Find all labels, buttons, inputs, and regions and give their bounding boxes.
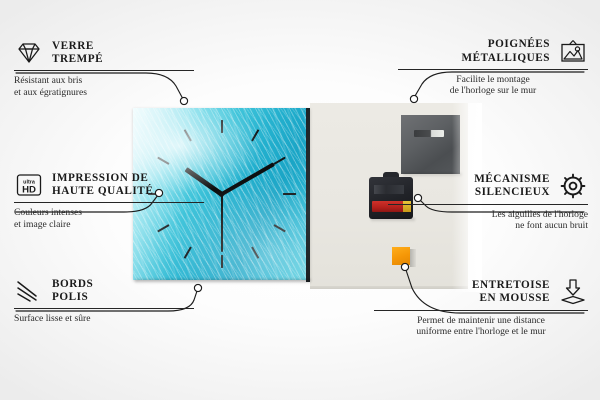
- feature-desc-line1: Les aiguilles de l'horloge: [388, 209, 588, 220]
- feature-desc-line1: Couleurs intenses: [14, 207, 204, 218]
- feature-rule: [398, 69, 588, 70]
- feature-rule: [374, 310, 588, 311]
- feature-entretoise-mousse: ENTRETOISE EN MOUSSE Permet de maintenir…: [374, 278, 588, 338]
- feature-title-line2: HAUTE QUALITÉ: [52, 185, 153, 198]
- feature-title-line1: MÉCANISME: [474, 173, 550, 185]
- feature-rule: [14, 202, 204, 203]
- feature-title-line2: MÉTALLIQUES: [461, 52, 550, 65]
- feature-title: ENTRETOISE EN MOUSSE: [472, 279, 550, 305]
- feature-desc-line2: et image claire: [14, 219, 204, 230]
- arrow-down-pad-icon: [558, 278, 588, 306]
- feature-title: IMPRESSION DE HAUTE QUALITÉ: [52, 172, 153, 198]
- feature-desc: Les aiguilles de l'horloge ne font aucun…: [388, 209, 588, 232]
- feature-title: BORDS POLIS: [52, 278, 93, 304]
- feature-desc: Couleurs intenses et image claire: [14, 207, 204, 230]
- feature-title: POIGNÉES MÉTALLIQUES: [461, 38, 550, 64]
- ultra-hd-icon: ultra HD: [14, 172, 44, 198]
- feature-title-line2: TREMPÉ: [52, 53, 103, 66]
- feature-rule: [14, 308, 194, 309]
- feature-impression-hd: ultra HD IMPRESSION DE HAUTE QUALITÉ Cou…: [14, 172, 204, 230]
- feature-title-line2: EN MOUSSE: [472, 292, 550, 305]
- feature-title-line2: POLIS: [52, 291, 93, 304]
- feature-title-line1: IMPRESSION DE: [52, 172, 148, 184]
- feature-desc-line1: Facilite le montage: [398, 74, 588, 85]
- feature-desc: Surface lisse et sûre: [14, 313, 194, 324]
- diamond-icon: [14, 41, 44, 65]
- feature-rule: [14, 70, 194, 71]
- polished-edges-icon: [14, 279, 44, 303]
- feature-desc-line1: Résistant aux bris: [14, 75, 194, 86]
- feature-title-line1: VERRE: [52, 40, 94, 52]
- feature-bords-polis: BORDS POLIS Surface lisse et sûre: [14, 278, 194, 325]
- feature-desc-line1: Permet de maintenir une distance: [374, 315, 588, 326]
- picture-frame-icon: [558, 38, 588, 65]
- connector-endpoint-verre: [180, 97, 187, 104]
- infographic-canvas: VERRE TREMPÉ Résistant aux bris et aux é…: [0, 0, 600, 400]
- feature-desc-line2: et aux égratignures: [14, 87, 194, 98]
- feature-desc: Permet de maintenir une distance uniform…: [374, 315, 588, 338]
- feature-poignees-metalliques: POIGNÉES MÉTALLIQUES Facilite le montage…: [398, 38, 588, 97]
- feature-title-line1: ENTRETOISE: [472, 279, 550, 291]
- feature-desc-line2: de l'horloge sur le mur: [398, 85, 588, 96]
- feature-mecanisme-silencieux: MÉCANISME SILENCIEUX Les aiguilles de l'…: [388, 172, 588, 232]
- ultra-hd-icon-large-text: HD: [22, 185, 36, 196]
- feature-desc: Résistant aux bris et aux égratignures: [14, 75, 194, 98]
- feature-verre-trempe: VERRE TREMPÉ Résistant aux bris et aux é…: [14, 40, 194, 98]
- feature-desc-line2: ne font aucun bruit: [388, 220, 588, 231]
- feature-title-line1: BORDS: [52, 278, 93, 290]
- feature-desc-line1: Surface lisse et sûre: [14, 313, 194, 324]
- feature-rule: [388, 204, 588, 205]
- feature-title-line1: POIGNÉES: [488, 38, 550, 50]
- connector-endpoint-entretoise: [401, 263, 408, 270]
- feature-desc: Facilite le montage de l'horloge sur le …: [398, 74, 588, 97]
- feature-title-line2: SILENCIEUX: [474, 186, 550, 199]
- feature-title: VERRE TREMPÉ: [52, 40, 103, 66]
- feature-desc-line2: uniforme entre l'horloge et le mur: [374, 326, 588, 337]
- feature-title: MÉCANISME SILENCIEUX: [474, 173, 550, 199]
- connector-endpoint-bords: [194, 284, 201, 291]
- gear-icon: [558, 172, 588, 200]
